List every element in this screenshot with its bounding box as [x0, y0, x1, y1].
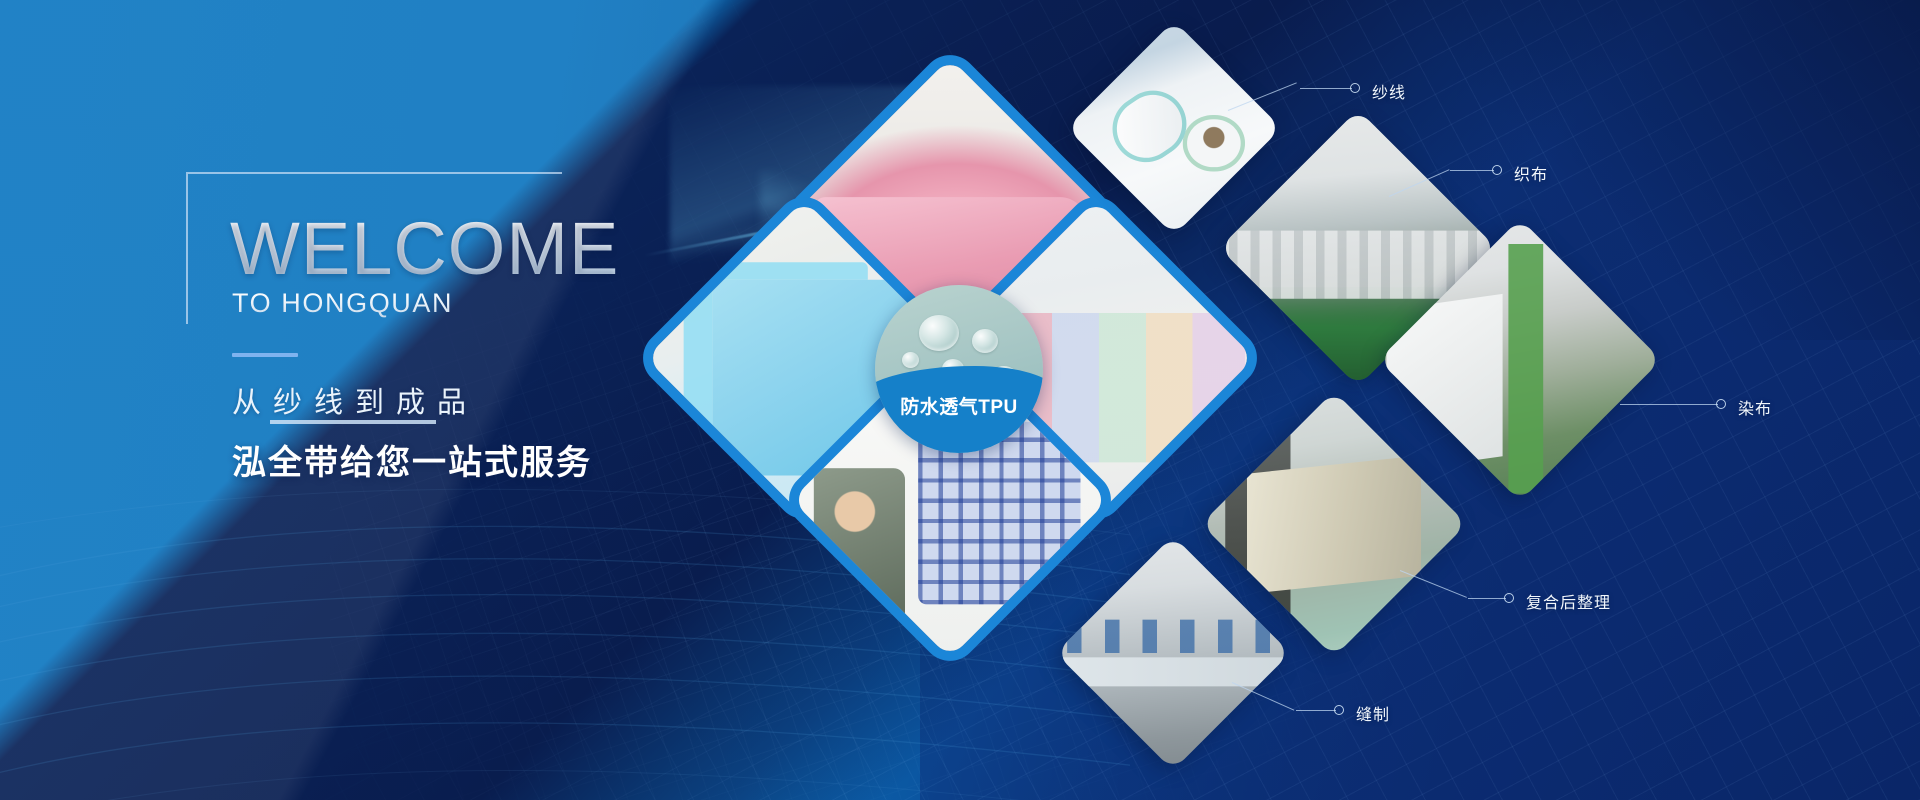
process-label-yarn: 纱线	[1372, 79, 1406, 103]
leader-dot-sewing	[1334, 705, 1344, 715]
leader-dot-laminating	[1504, 593, 1514, 603]
tpu-feature-badge[interactable]: 防水透气TPU	[875, 285, 1043, 453]
leader-line-weaving-flat	[1450, 170, 1494, 171]
leader-dot-yarn	[1350, 83, 1360, 93]
product-diamond-cluster: 防水透气TPU	[700, 120, 1200, 620]
process-label-sewing: 缝制	[1356, 701, 1390, 725]
leader-dot-dyeing	[1716, 399, 1726, 409]
process-label-dyeing: 染布	[1738, 395, 1772, 419]
hero-banner: WELCOME TO HONGQUAN 从纱线到成品 泓全带给您一站式服务 防水…	[0, 0, 1920, 800]
leader-line-sewing-flat	[1296, 710, 1336, 711]
tpu-badge-label: 防水透气TPU	[875, 392, 1043, 419]
accent-rule	[232, 353, 298, 357]
process-label-laminating: 复合后整理	[1526, 589, 1611, 613]
leader-dot-weaving	[1492, 165, 1502, 175]
leader-line-laminating-flat	[1468, 598, 1506, 599]
process-label-weaving: 织布	[1514, 161, 1548, 185]
leader-line-yarn-flat	[1300, 88, 1352, 89]
leader-line-dyeing	[1620, 404, 1718, 405]
water-drop-icon	[972, 329, 998, 353]
water-drop-icon	[919, 315, 959, 351]
water-drop-icon	[902, 352, 919, 368]
bottom-divider-rule	[270, 420, 436, 424]
